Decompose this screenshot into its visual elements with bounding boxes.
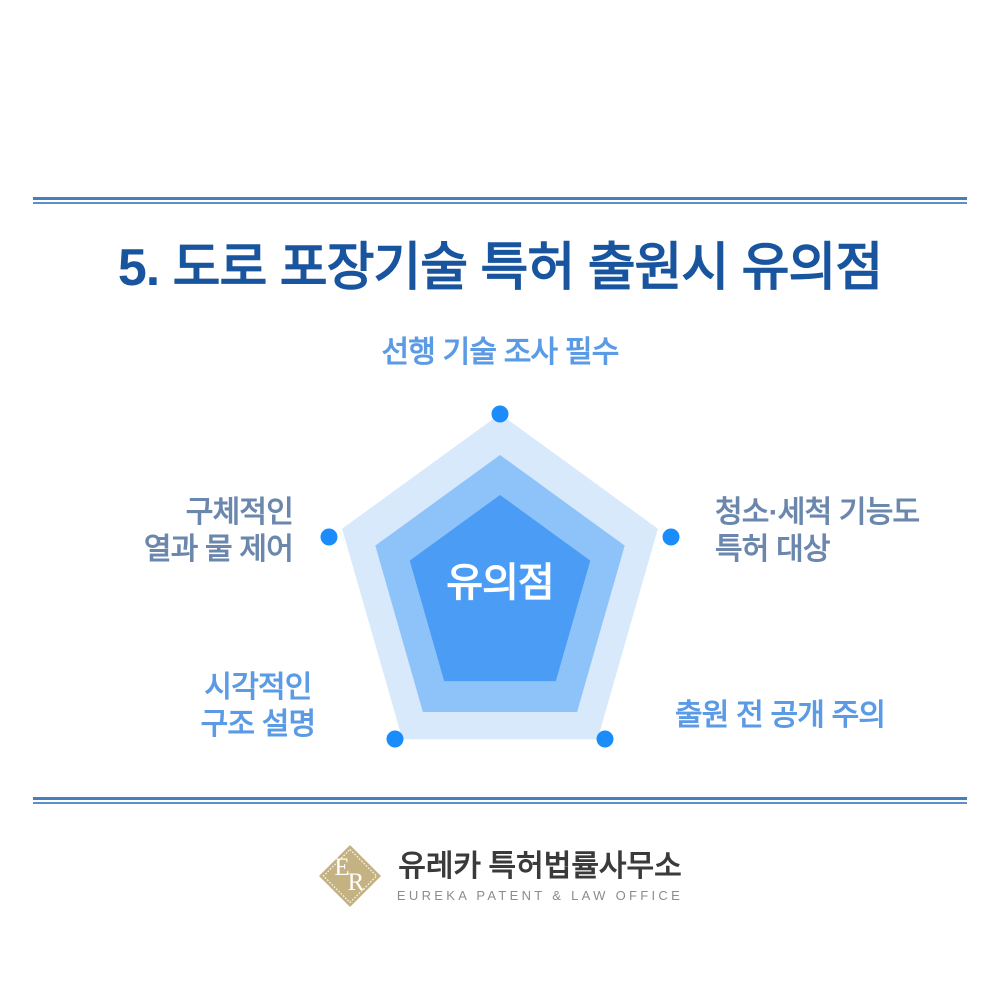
firm-name-ko: 유레카 특허법률사무소 xyxy=(398,852,682,882)
diagram-center-label: 유의점 xyxy=(400,550,600,608)
node-label-bottom-right: 출원 전 공개 주의 xyxy=(675,698,885,735)
node-label-bottom-left-line-1: 시각적인 xyxy=(183,670,333,707)
pentagon-diagram: 유의점 선행 기술 조사 필수 청소·세척 기능도 특허 대상 구체적인 열과 … xyxy=(0,300,1000,800)
node-label-right-line-2: 특허 대상 xyxy=(715,532,919,569)
footer-logo: E R 유레카 특허법률사무소 EUREKA PATENT & LAW OFFI… xyxy=(0,836,1000,916)
firm-name-en: EUREKA PATENT & LAW OFFICE xyxy=(397,889,683,902)
node-label-right: 청소·세척 기능도 특허 대상 xyxy=(715,495,919,568)
eureka-diamond-logo-icon: E R xyxy=(317,843,383,909)
vertex-dot-bottom-right[interactable] xyxy=(597,731,614,748)
node-label-top-line-1: 선행 기술 조사 필수 xyxy=(0,335,1000,372)
node-label-bottom-left: 시각적인 구조 설명 xyxy=(183,670,333,743)
divider-bottom xyxy=(33,797,967,805)
node-label-left-line-2: 열과 물 제어 xyxy=(108,532,293,569)
node-label-bottom-right-line-1: 출원 전 공개 주의 xyxy=(675,698,885,735)
vertex-dot-right[interactable] xyxy=(663,529,680,546)
node-label-left-line-1: 구체적인 xyxy=(108,495,293,532)
node-label-top: 선행 기술 조사 필수 xyxy=(0,335,1000,372)
vertex-dot-left[interactable] xyxy=(321,529,338,546)
node-label-right-line-1: 청소·세척 기능도 xyxy=(715,495,919,532)
node-label-bottom-left-line-2: 구조 설명 xyxy=(183,707,333,744)
vertex-dot-bottom-left[interactable] xyxy=(387,731,404,748)
divider-bottom-thin-bar xyxy=(33,802,967,804)
divider-top xyxy=(33,197,967,205)
divider-top-thin-bar xyxy=(33,202,967,204)
page-title: 5. 도로 포장기술 특허 출원시 유의점 xyxy=(0,225,1000,300)
node-label-left: 구체적인 열과 물 제어 xyxy=(108,495,293,568)
monogram-letter-r: R xyxy=(348,869,365,896)
footer-logo-text: 유레카 특허법률사무소 EUREKA PATENT & LAW OFFICE xyxy=(397,852,683,902)
vertex-dot-top[interactable] xyxy=(492,406,509,423)
